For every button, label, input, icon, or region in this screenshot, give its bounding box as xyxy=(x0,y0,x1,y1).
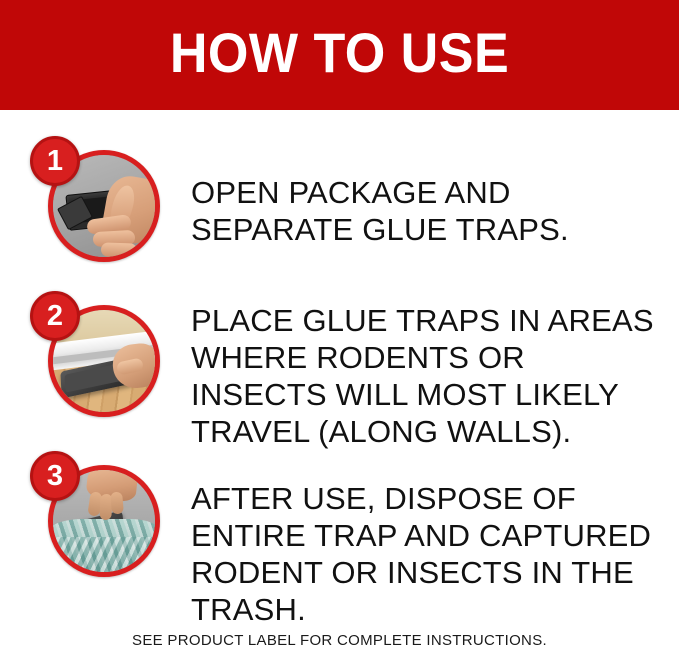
step-1-figure: 1 xyxy=(48,150,170,272)
step-1-text: OPEN PACKAGE AND SEPARATE GLUE TRAPS. xyxy=(191,174,661,248)
step-3-figure: 3 xyxy=(48,465,170,587)
steps-list: 1 OPEN PACKAGE AND SEPARATE GLUE TRAPS. xyxy=(0,110,679,610)
page-title: HOW TO USE xyxy=(24,24,655,82)
step-2-number-badge: 2 xyxy=(30,291,80,341)
step-3-number-badge: 3 xyxy=(30,451,80,501)
step-3-text: AFTER USE, DISPOSE OF ENTIRE TRAP AND CA… xyxy=(191,480,661,628)
step-2-text: PLACE GLUE TRAPS IN AREAS WHERE RODENTS … xyxy=(191,302,661,450)
step-1-number-badge: 1 xyxy=(30,136,80,186)
how-to-use-infographic: HOW TO USE 1 xyxy=(0,0,679,655)
footer-note: SEE PRODUCT LABEL FOR COMPLETE INSTRUCTI… xyxy=(0,632,679,649)
header-banner: HOW TO USE xyxy=(0,0,679,110)
step-2-figure: 2 xyxy=(48,305,170,427)
